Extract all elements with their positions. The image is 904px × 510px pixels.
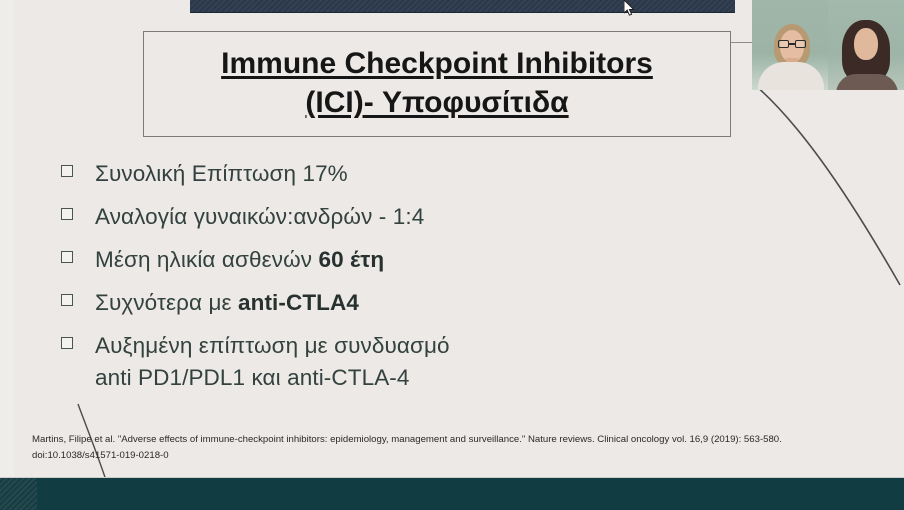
slide-bullet-list: Συνολική Επίπτωση 17% Αναλογία γυναικών:… <box>55 158 755 405</box>
list-item-label-plain: Μέση ηλικία ασθενών <box>95 247 318 272</box>
list-item-label-plain: Συχνότερα με <box>95 290 238 315</box>
bottom-bar-left-notch <box>0 478 37 510</box>
checkbox-square-bullet-icon <box>61 208 77 224</box>
slide-title-line-2: (ICI)- Υποφυσίτιδα <box>305 85 568 122</box>
checkbox-square-bullet-icon <box>61 165 77 181</box>
participant-right-body <box>836 74 898 90</box>
list-item-label-line-1: Αυξημένη επίπτωση με συνδυασμό <box>95 333 450 358</box>
bottom-toolbar-bar <box>0 478 904 510</box>
slide-left-edge-wash <box>0 0 14 510</box>
video-tile-participant-right[interactable] <box>828 0 904 90</box>
list-item: Συχνότερα με anti-CTLA4 <box>55 287 755 319</box>
list-item-label: Αυξημένη επίπτωση με συνδυασμό anti PD1/… <box>95 330 450 394</box>
list-item: Αναλογία γυναικών:ανδρών - 1:4 <box>55 201 755 233</box>
list-item-label: Συχνότερα με anti-CTLA4 <box>95 287 359 319</box>
list-item-label-bold: 60 έτη <box>318 247 384 272</box>
glasses-icon <box>778 40 806 48</box>
checkbox-square-bullet-icon <box>61 294 77 310</box>
slide-title-box: Immune Checkpoint Inhibitors (ICI)- Υποφ… <box>143 31 731 137</box>
video-tile-participant-left[interactable] <box>752 0 828 90</box>
checkbox-square-bullet-icon <box>61 337 77 353</box>
list-item-label: Μέση ηλικία ασθενών 60 έτη <box>95 244 384 276</box>
slide-title-line-1: Immune Checkpoint Inhibitors <box>221 46 653 83</box>
top-navy-bar <box>190 0 735 13</box>
list-item-label: Αναλογία γυναικών:ανδρών - 1:4 <box>95 201 424 233</box>
checkbox-square-bullet-icon <box>61 251 77 267</box>
list-item-label-bold: anti-CTLA4 <box>238 290 359 315</box>
video-participant-strip[interactable] <box>752 0 904 90</box>
list-item: Συνολική Επίπτωση 17% <box>55 158 755 190</box>
list-item-label-line-2: anti PD1/PDL1 και anti-CTLA-4 <box>95 365 410 390</box>
list-item: Μέση ηλικία ασθενών 60 έτη <box>55 244 755 276</box>
participant-left-body <box>758 62 824 90</box>
list-item: Αυξημένη επίπτωση με συνδυασμό anti PD1/… <box>55 330 755 394</box>
list-item-label: Συνολική Επίπτωση 17% <box>95 158 348 190</box>
citation-text: Martins, Filipe et al. "Adverse effects … <box>32 432 862 463</box>
presentation-screen: Immune Checkpoint Inhibitors (ICI)- Υποφ… <box>0 0 904 510</box>
participant-right-face <box>854 28 878 60</box>
